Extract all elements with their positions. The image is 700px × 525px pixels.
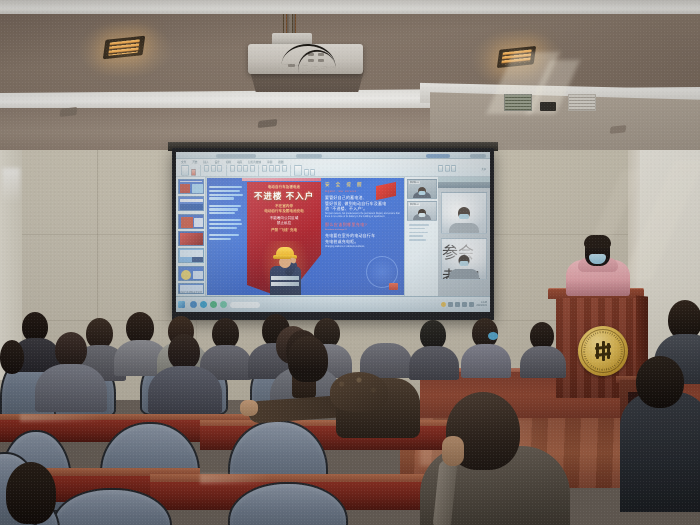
ear: [442, 436, 464, 466]
ribbon-group-paragraph[interactable]: [262, 165, 287, 172]
ribbon-tab[interactable]: 设计: [214, 160, 221, 165]
video-conference-panel[interactable]: 参会者 01 参会者 02: [404, 177, 438, 296]
participant-tile[interactable]: 参会者 01: [407, 179, 437, 199]
participant-name: 参会者 02: [409, 203, 420, 206]
slide-right-answer-en: Charging stations or cabinets outdoors.: [325, 246, 400, 249]
slide-right-question-en: So where to charge it?: [325, 229, 400, 231]
ribbon-group-paste[interactable]: [181, 165, 196, 176]
ribbon-tab[interactable]: 开始: [191, 160, 198, 165]
slide-accent-strip: [242, 178, 321, 181]
participant-tile[interactable]: 参会者 02: [407, 201, 437, 221]
tray-icon[interactable]: [448, 302, 453, 307]
slide-heading-main: 不进楼 不入户: [247, 190, 321, 202]
slide-english-column: [209, 184, 245, 291]
emblem-monogram-icon: [593, 341, 613, 361]
ribbon-group-font[interactable]: [230, 165, 255, 172]
ribbon-tab[interactable]: 幻灯片放映: [247, 160, 262, 165]
tray-icon[interactable]: [441, 302, 446, 307]
bullets-icon[interactable]: [262, 165, 267, 172]
taskbar-app-icon[interactable]: [200, 301, 207, 308]
english-paragraph: [209, 205, 245, 215]
taskbar-system-tray[interactable]: 14:28 2023/2/21: [441, 301, 487, 307]
participant-list[interactable]: [407, 224, 436, 241]
new-slide-icon[interactable]: [204, 165, 209, 172]
arrange-icon[interactable]: [304, 169, 309, 176]
vc-window-title-bar: 会议: [438, 182, 490, 188]
slide-icon[interactable]: [191, 169, 196, 176]
slide-thumbnail[interactable]: [178, 196, 204, 211]
volume-icon[interactable]: [462, 302, 467, 307]
university-emblem: [578, 326, 628, 376]
numbering-icon[interactable]: [269, 165, 274, 172]
lecture-hall-photo: 文件 开始 插入 设计 切换 动画 幻灯片放映 审阅 视图: [0, 0, 700, 525]
audience-hand: [240, 400, 258, 416]
taskbar-app-icon[interactable]: [210, 301, 217, 308]
hair-tie: [488, 332, 498, 340]
slide-thumbnail[interactable]: [178, 179, 204, 194]
italic-icon[interactable]: [237, 165, 242, 172]
wall-highlight: [2, 168, 20, 204]
tray-icon[interactable]: [455, 302, 460, 307]
ribbon-tab[interactable]: 文件: [180, 160, 187, 165]
ribbon-tab[interactable]: 审阅: [266, 160, 273, 165]
reset-icon[interactable]: [217, 165, 222, 172]
taskbar-app-icon[interactable]: [190, 301, 197, 308]
projector-port-panel: [540, 102, 556, 111]
select-icon[interactable]: [451, 165, 456, 172]
english-paragraph: [209, 234, 245, 240]
os-taskbar[interactable]: 电动自行车消防安全宣传 14:28 2023/2/21: [176, 296, 490, 312]
projector-vent-grille: [504, 94, 532, 111]
ribbon-tab[interactable]: 动画: [236, 160, 243, 165]
participant-name: 参会者 01: [409, 181, 420, 184]
layout-icon[interactable]: [211, 165, 216, 172]
underline-icon[interactable]: [243, 165, 248, 172]
slide-headline-block: 电动自行车及锂电池 不进楼 不入户 不在室内停 电动自行车及蓄电池充电 不能堵向…: [247, 184, 321, 233]
video-conference-window[interactable]: 会议 参会者 04: [438, 182, 490, 296]
taskbar-date[interactable]: 2023/2/21: [476, 304, 487, 307]
slide-chinese-column: 安 全 提 醒 Again, we stress: 要管好自己的蓄电池, 管好邻…: [325, 182, 400, 292]
participant-tile[interactable]: [441, 192, 487, 234]
bold-icon[interactable]: [230, 165, 235, 172]
slide-thumbnail[interactable]: [178, 214, 204, 229]
ribbon-tab[interactable]: 插入: [202, 160, 209, 165]
slide-subline: 禁止私拉: [247, 221, 321, 226]
slide-right-body-line: 池 "不进楼、不入户"。: [325, 206, 400, 212]
align-center-icon[interactable]: [282, 165, 287, 172]
start-button-icon[interactable]: [178, 301, 185, 308]
slide-subline: 电动自行车及蓄电池充电: [247, 209, 321, 214]
participant-tile[interactable]: 参会者 04: [441, 238, 487, 280]
quick-styles-icon[interactable]: [310, 169, 315, 176]
english-paragraph: [209, 219, 245, 229]
shapes-icon[interactable]: [294, 165, 302, 176]
english-paragraph: [209, 186, 245, 200]
align-left-icon[interactable]: [275, 165, 280, 172]
paste-icon[interactable]: [181, 165, 189, 176]
slide-logo-badge: [389, 283, 398, 290]
font-color-icon[interactable]: [250, 165, 255, 172]
ribbon-toolbar[interactable]: 文件 开始 插入 设计 切换 动画 幻灯片放映 审阅 视图: [176, 159, 490, 177]
slide-thumbnail-panel[interactable]: [176, 177, 206, 296]
find-icon[interactable]: [438, 165, 443, 172]
projection-screen: 文件 开始 插入 设计 切换 动画 幻灯片放映 审阅 视图: [176, 152, 490, 312]
taskbar-app-icon[interactable]: [220, 301, 227, 308]
fur-collar: [330, 372, 388, 412]
ribbon-group-slides[interactable]: [204, 165, 222, 172]
share-button[interactable]: 共享: [481, 167, 486, 171]
ribbon-tab[interactable]: 视图: [277, 160, 284, 165]
slide-thumbnail[interactable]: [178, 231, 204, 246]
speaker-hair: [584, 235, 611, 248]
slide-right-answer-line: 充电桩或充电柜。: [325, 239, 400, 245]
firefighter-illustration: [267, 245, 303, 295]
slide-right-question: 那么应该到哪里充电?: [325, 222, 400, 228]
ribbon-group-drawing[interactable]: [294, 165, 315, 176]
slide-thumbnail[interactable]: [178, 248, 204, 263]
ribbon-tabs[interactable]: 文件 开始 插入 设计 切换 动画 幻灯片放映 审阅 视图: [180, 160, 284, 165]
slide-thumbnail[interactable]: [178, 266, 204, 281]
desk-reflection: [20, 414, 160, 422]
speaker-shading: [566, 268, 630, 296]
slide-subline: 严禁 "飞线" 充电: [247, 228, 321, 233]
app-title-bar: [176, 152, 490, 159]
slide-right-body-en: Not just owners, but predecessors the pe…: [325, 213, 400, 219]
projector-keypad: [568, 94, 596, 111]
replace-icon[interactable]: [445, 165, 450, 172]
current-slide[interactable]: 电动自行车及锂电池 不进楼 不入户 不在室内停 电动自行车及蓄电池充电 不能堵向…: [207, 178, 404, 295]
taskbar-search-box[interactable]: [230, 302, 260, 308]
network-icon[interactable]: [469, 302, 474, 307]
ribbon-group-editing[interactable]: [438, 165, 456, 172]
document-path-label: 电动自行车消防安全宣传: [178, 290, 202, 294]
slide-heading-small: 电动自行车及锂电池: [247, 184, 321, 189]
ribbon-tab[interactable]: 切换: [225, 160, 232, 165]
